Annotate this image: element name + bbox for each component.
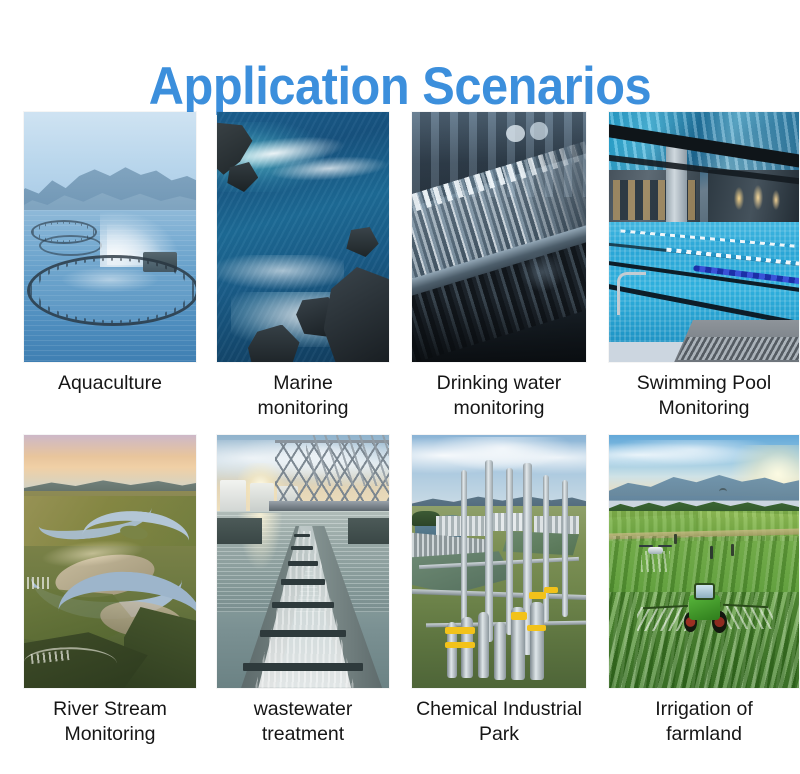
caption-line-2: treatment: [262, 723, 344, 745]
weir-3: [288, 561, 319, 566]
caption-line-1: Drinking water: [437, 372, 562, 394]
worker-1: [710, 546, 714, 559]
yellow-platform-3: [511, 612, 527, 620]
weir-2: [291, 546, 313, 550]
river-stream-monitoring-photo: [24, 435, 196, 688]
chemical-industrial-park-photo: [412, 435, 586, 688]
tractor-cab: [694, 583, 715, 600]
distillation-column-5: [543, 475, 550, 622]
bird-icon: [719, 488, 727, 495]
scenario-card-swimming-pool-monitoring[interactable]: Swimming Pool Monitoring: [592, 112, 800, 421]
yellow-platform-1: [445, 627, 475, 634]
scenario-caption: River Stream Monitoring: [53, 697, 167, 747]
scenario-card-chemical-industrial-park[interactable]: Chemical Industrial Park: [392, 435, 592, 747]
scenario-grid: Aquaculture Marine monitoring: [0, 112, 800, 747]
worker-3: [674, 534, 677, 544]
scenario-caption: Marine monitoring: [257, 371, 348, 421]
caption-line-2: farmland: [666, 723, 742, 745]
distillation-column-6: [562, 480, 568, 617]
scenario-card-aquaculture[interactable]: Aquaculture: [0, 112, 196, 421]
bokeh-highlight-2: [530, 122, 547, 140]
page-title: Application Scenarios: [32, 58, 768, 115]
irrigation-of-farmland-photo: [609, 435, 799, 688]
pool-ladder: [617, 272, 647, 315]
scenario-row-1: Aquaculture Marine monitoring: [0, 112, 800, 421]
swimming-pool-monitoring-photo: [609, 112, 799, 362]
fish-pen-small-2: [39, 235, 101, 257]
shadowed-hill-right: [124, 607, 196, 688]
weir-1: [294, 534, 309, 537]
basin-edge-right: [348, 518, 389, 543]
caption-line-2: Park: [479, 723, 519, 745]
surf-foam-3: [217, 255, 344, 290]
process-vessel-3: [478, 612, 488, 678]
scenario-caption: Swimming Pool Monitoring: [637, 371, 771, 421]
drone-body: [648, 547, 662, 554]
scenario-caption: Irrigation of farmland: [655, 697, 753, 747]
walkway-deck: [269, 501, 389, 511]
clouds: [412, 437, 586, 477]
lamp-1: [734, 187, 744, 210]
yellow-platform-6: [544, 587, 558, 593]
caption-line-1: Swimming Pool: [637, 372, 771, 394]
caption-line-1: Marine: [273, 372, 333, 394]
caption-line-1: Chemical Industrial: [416, 698, 582, 720]
marine-monitoring-photo: [217, 112, 389, 362]
basin-edge-left: [217, 518, 262, 543]
plant-building-3: [534, 516, 579, 534]
lamp-2: [753, 185, 763, 210]
weir-6: [260, 630, 346, 638]
steel-truss-upper: [306, 435, 389, 486]
caption-line-2: monitoring: [453, 397, 544, 419]
caption-line-1: wastewater: [254, 698, 353, 720]
fish-pen-large: [27, 255, 196, 326]
scenario-caption: wastewater treatment: [254, 697, 353, 747]
foreground-shadow: [412, 297, 586, 362]
spray-drone: [639, 541, 671, 559]
overflow-grate: [677, 337, 799, 360]
scenario-card-wastewater-treatment[interactable]: wastewater treatment: [196, 435, 392, 747]
scenario-card-drinking-water-monitoring[interactable]: Drinking water monitoring: [392, 112, 592, 421]
caption-line-2: Monitoring: [658, 397, 749, 419]
caption-line-1: River Stream: [53, 698, 167, 720]
drinking-water-monitoring-photo: [412, 112, 586, 362]
sprayer-tractor: [681, 582, 730, 635]
yellow-platform-2: [445, 642, 475, 648]
weir-7: [243, 663, 363, 672]
wastewater-treatment-photo: [217, 435, 389, 688]
process-vessel-6: [530, 602, 544, 680]
yellow-platform-5: [527, 625, 546, 632]
scenario-caption: Chemical Industrial Park: [416, 697, 582, 747]
lamp-3: [772, 190, 780, 210]
process-vessel-4: [494, 622, 506, 680]
village-1: [27, 577, 51, 590]
spray-right: [722, 606, 773, 629]
caption-line-2: monitoring: [257, 397, 348, 419]
worker-2: [731, 544, 735, 557]
scenario-card-river-stream-monitoring[interactable]: River Stream Monitoring: [0, 435, 196, 747]
weir-4: [281, 579, 326, 585]
caption-line-1: Irrigation of: [655, 698, 753, 720]
scenario-card-irrigation-of-farmland[interactable]: Irrigation of farmland: [592, 435, 800, 747]
scenario-row-2: River Stream Monitoring: [0, 435, 800, 747]
yellow-platform-4: [529, 592, 546, 600]
bokeh-highlight-1: [506, 125, 525, 143]
scenario-caption: Aquaculture: [58, 371, 162, 396]
scenario-caption: Drinking water monitoring: [437, 371, 562, 421]
distillation-column-1: [461, 470, 467, 622]
support-column: [666, 137, 687, 227]
caption-line-2: Monitoring: [64, 723, 155, 745]
weir-5: [272, 602, 334, 609]
machine-glow: [520, 252, 565, 292]
aquaculture-photo: [24, 112, 196, 362]
scenario-card-marine-monitoring[interactable]: Marine monitoring: [196, 112, 392, 421]
spray-left: [637, 607, 686, 630]
